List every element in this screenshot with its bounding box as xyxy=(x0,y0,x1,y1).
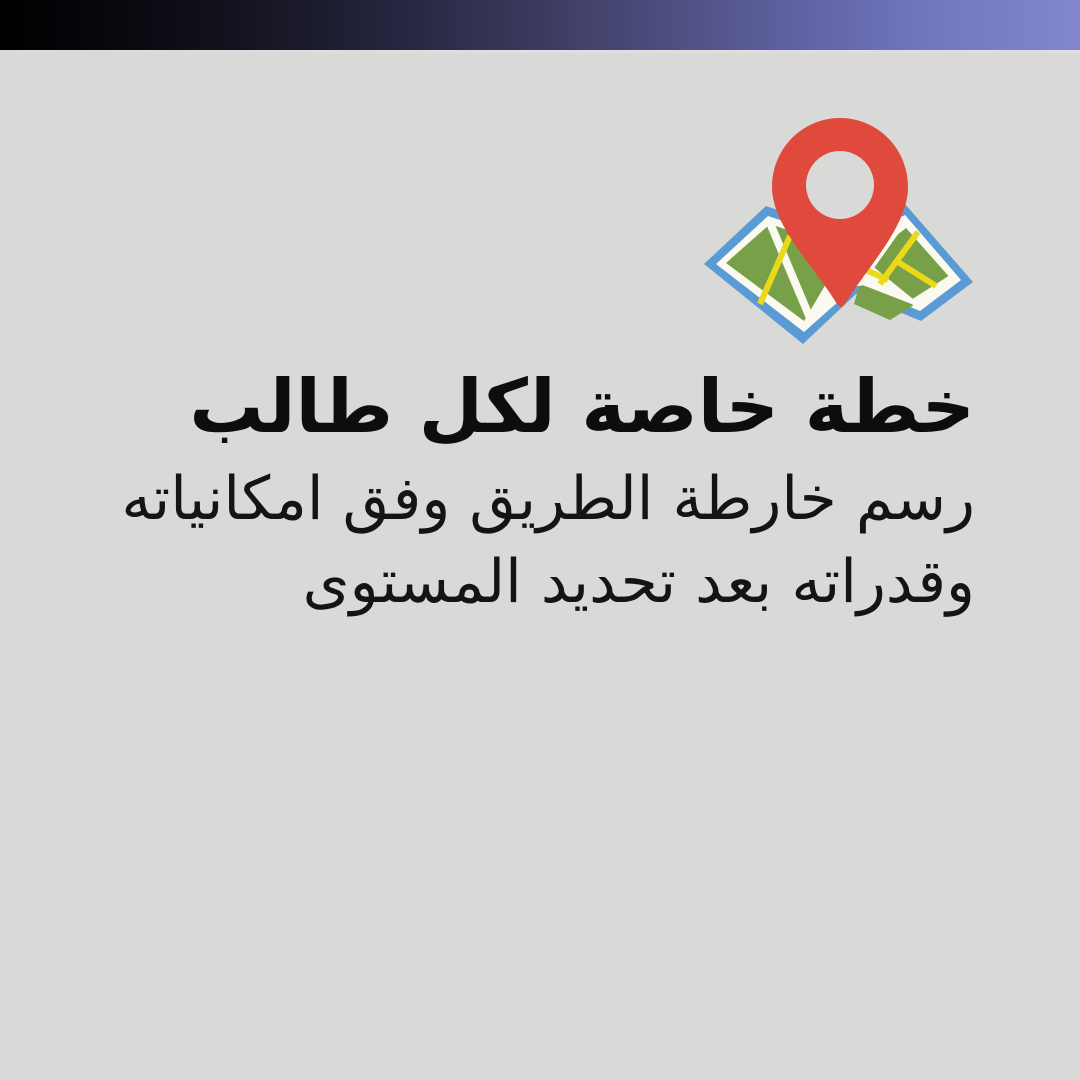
slide-canvas: خطة خاصة لكل طالب رسم خارطة الطريق وفق ا… xyxy=(0,0,1080,1080)
top-bar-edge-highlight xyxy=(0,50,1080,53)
subtitle-line-1: رسم خارطة الطريق وفق امكانياته xyxy=(105,458,975,541)
map-illustration xyxy=(690,108,986,360)
map-pin-graphic xyxy=(690,108,986,360)
text-block: خطة خاصة لكل طالب رسم خارطة الطريق وفق ا… xyxy=(105,362,975,624)
headline: خطة خاصة لكل طالب xyxy=(105,362,975,452)
top-gradient-bar xyxy=(0,0,1080,50)
subtitle-line-2: وقدراته بعد تحديد المستوى xyxy=(105,541,975,624)
